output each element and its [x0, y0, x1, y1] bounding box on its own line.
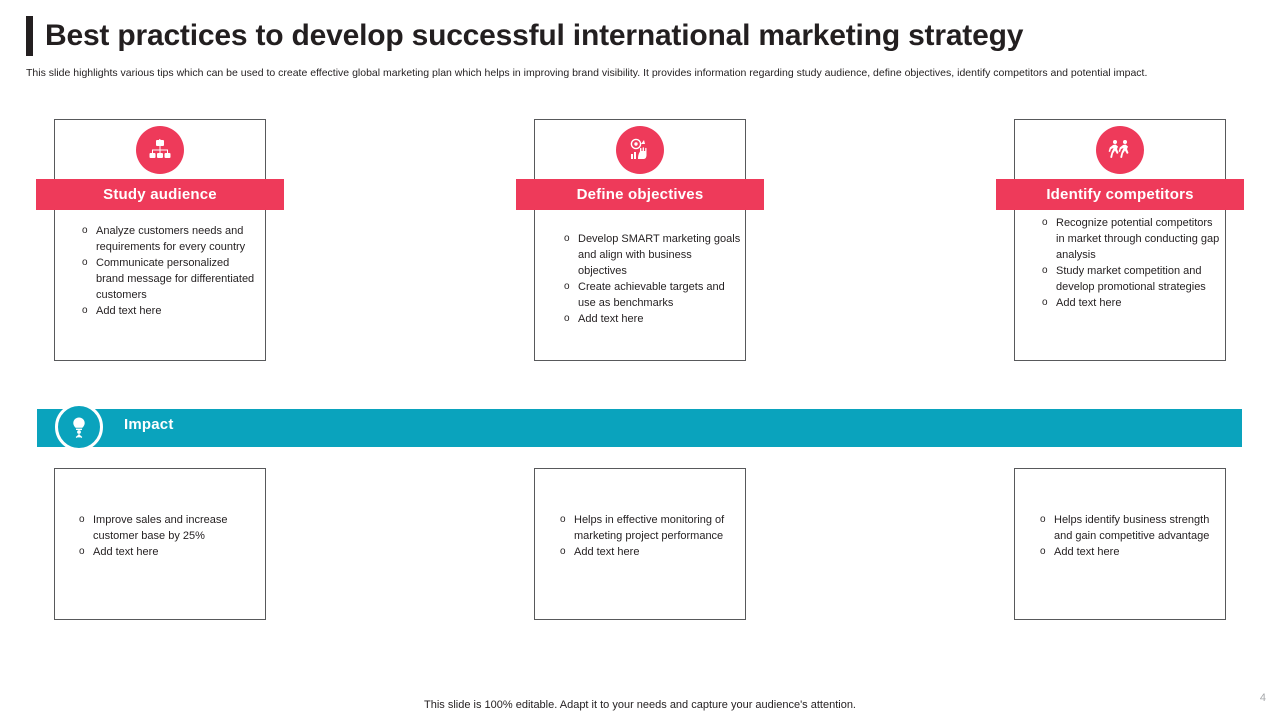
slide-root: Best practices to develop successful int… — [0, 0, 1280, 720]
bullet-list-impact-three: oHelps identify business strength and ga… — [1054, 512, 1214, 560]
list-item: oAdd text here — [1056, 295, 1220, 311]
bullet-list-identify-competitors: oRecognize potential competitors in mark… — [1056, 215, 1220, 311]
bullet-marker: o — [1042, 295, 1048, 311]
list-item-text: Add text here — [1054, 544, 1214, 560]
bullet-marker: o — [1040, 544, 1046, 560]
bullet-marker: o — [560, 544, 566, 560]
title-text: Best practices to develop successful int… — [45, 16, 1023, 56]
bullet-list-study-audience: oAnalyze customers needs and requirement… — [96, 223, 260, 319]
bullet-list-impact-one: oImprove sales and increase customer bas… — [93, 512, 253, 560]
title-accent-bar — [26, 16, 33, 56]
list-item: oAdd text here — [93, 544, 253, 560]
list-item: oAdd text here — [1054, 544, 1214, 560]
list-item: oAnalyze customers needs and requirement… — [96, 223, 260, 255]
bullet-marker: o — [564, 311, 570, 327]
runners-race-icon — [1096, 126, 1144, 174]
list-item: oHelps identify business strength and ga… — [1054, 512, 1214, 544]
organization-chart-icon — [136, 126, 184, 174]
ribbon-define-objectives: Define objectives — [516, 179, 764, 210]
page-number: 4 — [1260, 692, 1266, 704]
list-item-text: Study market competition and develop pro… — [1056, 263, 1220, 295]
list-item-text: Add text here — [578, 311, 742, 327]
list-item: oRecognize potential competitors in mark… — [1056, 215, 1220, 263]
ribbon-label: Identify competitors — [1046, 186, 1193, 203]
list-item: oCreate achievable targets and use as be… — [578, 279, 742, 311]
bullet-marker: o — [564, 279, 570, 295]
page-title: Best practices to develop successful int… — [26, 16, 1246, 56]
list-item-text: Develop SMART marketing goals and align … — [578, 231, 742, 279]
list-item-text: Create achievable targets and use as ben… — [578, 279, 742, 311]
list-item-text: Add text here — [96, 303, 260, 319]
list-item-text: Add text here — [1056, 295, 1220, 311]
ribbon-study-audience: Study audience — [36, 179, 284, 210]
bullet-marker: o — [82, 255, 88, 271]
bullet-marker: o — [79, 544, 85, 560]
list-item: oStudy market competition and develop pr… — [1056, 263, 1220, 295]
bullet-marker: o — [82, 223, 88, 239]
ribbon-label: Study audience — [103, 186, 217, 203]
bullet-marker: o — [560, 512, 566, 528]
list-item: oCommunicate personalized brand message … — [96, 255, 260, 303]
slide-subtitle: This slide highlights various tips which… — [26, 66, 1242, 81]
list-item-text: Recognize potential competitors in marke… — [1056, 215, 1220, 263]
list-item-text: Communicate personalized brand message f… — [96, 255, 260, 303]
bullet-marker: o — [1042, 215, 1048, 231]
list-item: oAdd text here — [578, 311, 742, 327]
list-item-text: Helps in effective monitoring of marketi… — [574, 512, 734, 544]
bullet-marker: o — [79, 512, 85, 528]
bullet-list-impact-two: oHelps in effective monitoring of market… — [574, 512, 734, 560]
list-item-text: Helps identify business strength and gai… — [1054, 512, 1214, 544]
list-item-text: Add text here — [574, 544, 734, 560]
list-item: oImprove sales and increase customer bas… — [93, 512, 253, 544]
ribbon-identify-competitors: Identify competitors — [996, 179, 1244, 210]
hand-target-icon — [616, 126, 664, 174]
impact-banner — [37, 409, 1242, 447]
list-item: oAdd text here — [574, 544, 734, 560]
bullet-marker: o — [564, 231, 570, 247]
footer-note: This slide is 100% editable. Adapt it to… — [0, 699, 1280, 711]
list-item: oDevelop SMART marketing goals and align… — [578, 231, 742, 279]
list-item-text: Add text here — [93, 544, 253, 560]
list-item-text: Analyze customers needs and requirements… — [96, 223, 260, 255]
ribbon-label: Define objectives — [577, 186, 704, 203]
impact-label: Impact — [124, 416, 174, 433]
bullet-marker: o — [1040, 512, 1046, 528]
list-item: oAdd text here — [96, 303, 260, 319]
list-item-text: Improve sales and increase customer base… — [93, 512, 253, 544]
idea-person-icon — [55, 403, 103, 451]
bullet-list-define-objectives: oDevelop SMART marketing goals and align… — [578, 231, 742, 327]
bullet-marker: o — [82, 303, 88, 319]
bullet-marker: o — [1042, 263, 1048, 279]
list-item: oHelps in effective monitoring of market… — [574, 512, 734, 544]
